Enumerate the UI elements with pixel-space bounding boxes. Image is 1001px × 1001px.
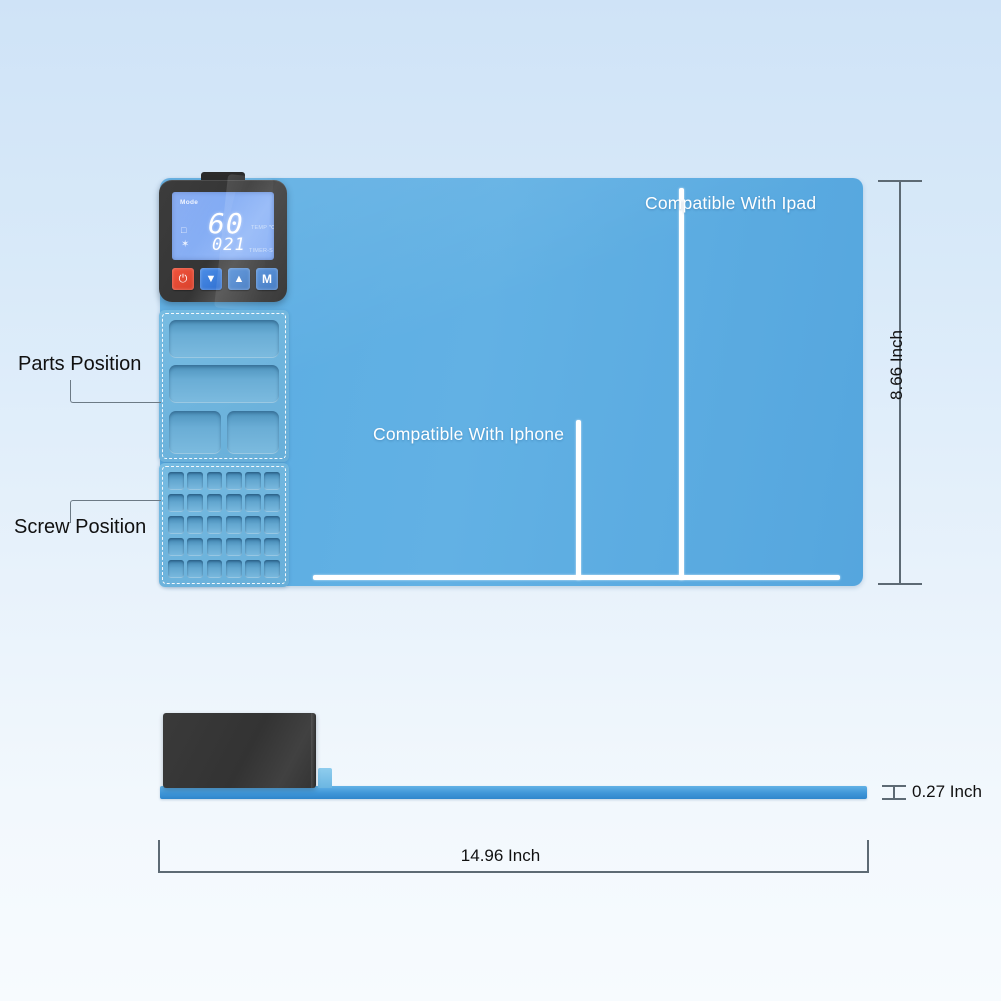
screw-hole — [187, 472, 203, 490]
screw-hole — [168, 472, 184, 490]
up-button[interactable]: ▲ — [228, 268, 250, 290]
parts-slot-square-right — [227, 411, 279, 454]
screw-hole — [226, 472, 242, 490]
screw-hole — [245, 494, 261, 512]
thickness-dimension-cap-top — [882, 785, 906, 787]
screw-hole — [187, 538, 203, 556]
parts-position-tray — [159, 310, 289, 462]
lcd-timer-unit: TIMER-S — [249, 248, 273, 254]
mode-button[interactable]: M — [256, 268, 278, 290]
screw-hole — [207, 516, 223, 534]
ipad-guide-vertical-line — [679, 188, 684, 580]
power-icon: ⏻ — [179, 274, 188, 285]
screw-hole — [168, 560, 184, 578]
lcd-square-icon: □ — [181, 226, 186, 235]
height-dimension-label: 8.66 Inch — [887, 330, 907, 400]
thickness-dimension-label: 0.27 Inch — [912, 782, 982, 802]
parts-slot-wide-1 — [169, 320, 279, 358]
width-dimension-line — [158, 871, 869, 873]
screw-hole — [187, 494, 203, 512]
lcd-temperature-value: 60 — [208, 210, 244, 238]
lcd-timer-value: 021 — [212, 237, 246, 254]
screw-hole — [168, 538, 184, 556]
down-button[interactable]: ▼ — [200, 268, 222, 290]
compatible-with-iphone-label: Compatible With Iphone — [373, 424, 564, 445]
screw-hole — [168, 494, 184, 512]
width-dimension-label: 14.96 Inch — [0, 846, 1001, 866]
screw-hole — [245, 538, 261, 556]
lcd-heat-icon: ✶ — [181, 240, 189, 250]
screw-hole — [245, 516, 261, 534]
iphone-guide-vertical-line — [576, 420, 581, 580]
screw-hole — [226, 516, 242, 534]
screw-hole — [226, 494, 242, 512]
screw-hole — [226, 538, 242, 556]
mat-side-view-riser — [318, 768, 332, 788]
screw-hole — [264, 516, 280, 534]
screw-hole — [207, 560, 223, 578]
height-dimension-cap-bottom — [878, 583, 922, 585]
thickness-dimension-cap-bottom — [882, 798, 906, 800]
screw-position-tray — [159, 463, 289, 587]
screw-hole — [264, 560, 280, 578]
screw-hole — [207, 538, 223, 556]
parts-position-leader-line — [70, 380, 161, 403]
parts-slot-square-left — [169, 411, 221, 454]
chevron-down-icon: ▼ — [206, 274, 217, 285]
screw-hole — [187, 516, 203, 534]
screw-hole — [207, 494, 223, 512]
compatible-with-ipad-label: Compatible With Ipad — [645, 193, 816, 214]
control-unit-side-edge — [311, 713, 316, 788]
screw-hole — [187, 560, 203, 578]
lcd-display: Mode □ ✶ 60 TEMP ℃ 021 TIMER-S — [172, 192, 274, 260]
screw-hole — [264, 538, 280, 556]
screw-hole — [207, 472, 223, 490]
control-unit: Mode □ ✶ 60 TEMP ℃ 021 TIMER-S ⏻ ▼ ▲ M — [159, 180, 287, 302]
chevron-up-icon: ▲ — [234, 274, 245, 285]
lcd-mode-label: Mode — [180, 199, 198, 206]
power-button[interactable]: ⏻ — [172, 268, 194, 290]
screw-hole — [226, 560, 242, 578]
diagram-canvas: Compatible With Ipad Compatible With Iph… — [0, 0, 1001, 1001]
control-unit-side-view — [163, 713, 316, 788]
screw-hole-grid — [168, 472, 280, 578]
parts-position-label: Parts Position — [18, 353, 141, 376]
screw-hole — [264, 472, 280, 490]
control-button-row: ⏻ ▼ ▲ M — [172, 268, 278, 290]
height-dimension-cap-top — [878, 180, 922, 182]
lcd-temperature-unit: TEMP ℃ — [251, 225, 274, 231]
parts-slot-wide-2 — [169, 365, 279, 403]
screw-position-label: Screw Position — [14, 516, 146, 539]
screw-hole — [245, 472, 261, 490]
mode-letter-icon: M — [262, 273, 272, 285]
screw-hole — [264, 494, 280, 512]
screw-hole — [245, 560, 261, 578]
screw-hole — [168, 516, 184, 534]
